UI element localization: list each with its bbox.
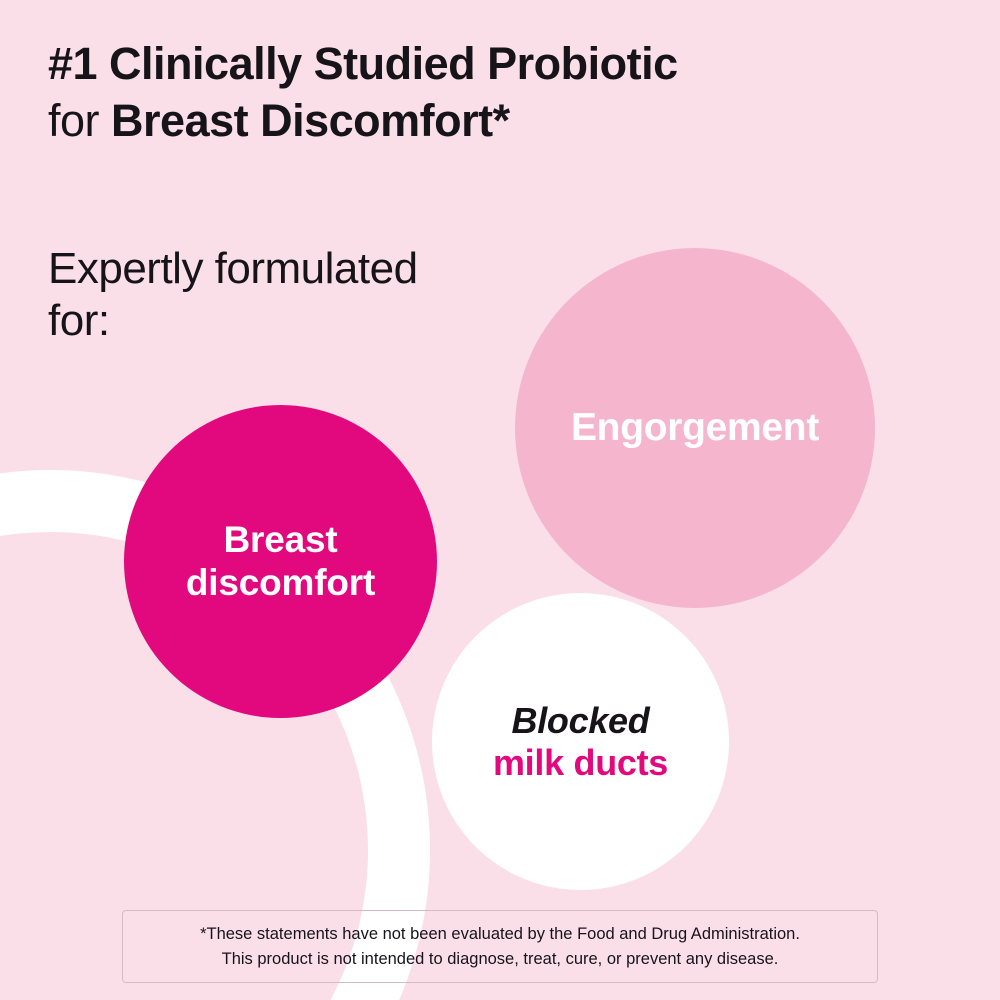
circle-blocked-milk-ducts: Blocked milk ducts (432, 593, 729, 890)
circle-engorgement: Engorgement (515, 248, 875, 608)
disclaimer-box: *These statements have not been evaluate… (122, 910, 878, 983)
headline-line-2-prefix: for (48, 95, 111, 146)
subheading: Expertly formulated for: (48, 243, 478, 347)
circle-breast-discomfort-label-line-1: Breast (224, 519, 338, 560)
headline: #1 Clinically Studied Probiotic for Brea… (48, 40, 968, 145)
disclaimer-line-2: This product is not intended to diagnose… (222, 947, 779, 972)
circle-breast-discomfort-label-line-2: discomfort (186, 562, 375, 603)
headline-line-2: for Breast Discomfort* (48, 97, 968, 146)
circle-blocked-milk-ducts-label-line-2: milk ducts (493, 742, 668, 783)
disclaimer-line-1: *These statements have not been evaluate… (200, 922, 800, 947)
headline-line-1: #1 Clinically Studied Probiotic (48, 40, 968, 89)
headline-line-2-bold: Breast Discomfort* (111, 95, 510, 146)
circle-engorgement-label: Engorgement (571, 406, 819, 450)
circle-blocked-milk-ducts-label-line-1: Blocked (512, 700, 650, 741)
circle-breast-discomfort-label: Breast discomfort (186, 519, 375, 605)
circle-breast-discomfort: Breast discomfort (124, 405, 437, 718)
promo-graphic: #1 Clinically Studied Probiotic for Brea… (0, 0, 1000, 1000)
